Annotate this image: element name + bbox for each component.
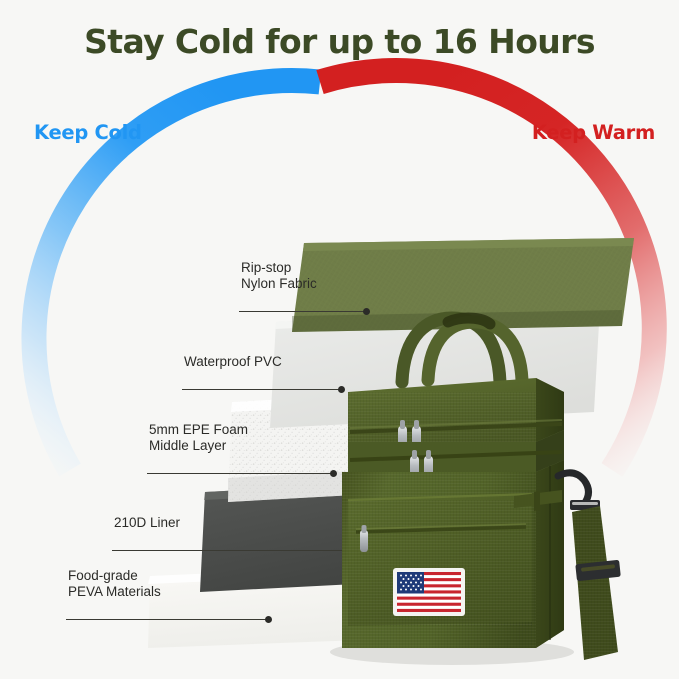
zipper-slider-icon [412,450,417,459]
strap-texture [572,506,618,660]
callout-waterproof-pvc: Waterproof PVC [182,338,342,406]
strap-clip-icon [558,473,589,504]
carry-handles [402,318,522,382]
flag-stars [400,575,422,591]
callout-label: Waterproof PVC [182,354,342,373]
divider-band [348,430,564,472]
leader-line [66,619,269,620]
divider-side [536,430,564,472]
zipper-pulls-upper [398,420,421,450]
callout-epe-foam-middle-layer: 5mm EPE Foam Middle Layer [147,406,334,490]
zipper-pull-icon [410,456,419,480]
lid-texture [348,392,536,442]
handle-back [428,322,522,380]
strap-clip-bar [570,500,600,510]
usa-flag-patch [393,568,465,616]
product-cooler-bag: MAELSTROM [300,300,679,679]
flag-stripes [397,572,461,612]
callout-label: 5mm EPE Foam Middle Layer [147,422,334,457]
callout-rip-stop-nylon-fabric: Rip-stop Nylon Fabric [239,244,367,328]
zipper-pull-icon [360,530,368,552]
callout-label: Food-grade PEVA Materials [66,568,269,603]
zipper-slider-icon [362,525,367,533]
brand-logo-text: MAELSTROM [408,503,484,514]
pocket-top-edge [348,494,532,500]
logo-emblem-icon [392,504,404,513]
zipper-slider-icon [414,420,419,429]
zipper-pull-icon [424,456,433,480]
upper-compartment [348,378,564,442]
callout-label: 210D Liner [112,515,356,534]
strap-webbing [572,506,618,660]
zipper-pulls-middle [410,450,433,480]
body-side [536,460,564,648]
callout-label: Rip-stop Nylon Fabric [239,260,367,295]
strap-adjuster-slot [581,564,615,572]
strap-clip-highlight [572,502,598,505]
webbing-tab [534,491,540,511]
handle-wrap [448,318,490,324]
callout-food-grade-peva-materials: Food-grade PEVA Materials [66,552,269,636]
side-webbing [514,490,562,511]
pocket-panel [348,494,532,626]
lid-zipper-highlight [350,420,562,428]
keep-warm-label: Keep Warm [532,121,655,144]
pocket-zipper-highlight [356,524,526,529]
zipper-pull-icon [398,426,407,450]
pocket-texture [348,500,532,626]
pocket-zipper-track [356,527,526,532]
front-pocket [348,494,532,626]
bag-shadow [330,639,574,665]
flag-canton [397,572,424,594]
body-front [342,460,564,648]
handle-front [402,318,500,382]
zipper-slider-icon [426,450,431,459]
webbing-strip [514,490,562,508]
leader-line [182,389,342,390]
page-title: Stay Cold for up to 16 Hours [0,22,679,61]
zipper-slider-icon [400,420,405,429]
leader-line [239,311,367,312]
leader-line [112,550,356,551]
divider-zipper-track [350,452,562,460]
infographic-canvas: Stay Cold for up to 16 Hours Keep Cold K… [0,0,679,679]
lid-zipper-track [350,424,562,432]
middle-divider [348,430,564,472]
brand-logo: MAELSTROM [392,503,484,514]
leader-line [147,473,334,474]
keep-cold-label: Keep Cold [34,121,142,144]
lid-side [536,378,564,442]
lid-top [348,378,564,442]
body-texture [342,472,536,648]
strap-adjuster-icon [575,560,621,582]
flag-patch-border [393,568,465,616]
shoulder-strap [558,473,621,660]
main-body [342,460,564,648]
zipper-pull-icon [412,426,421,450]
